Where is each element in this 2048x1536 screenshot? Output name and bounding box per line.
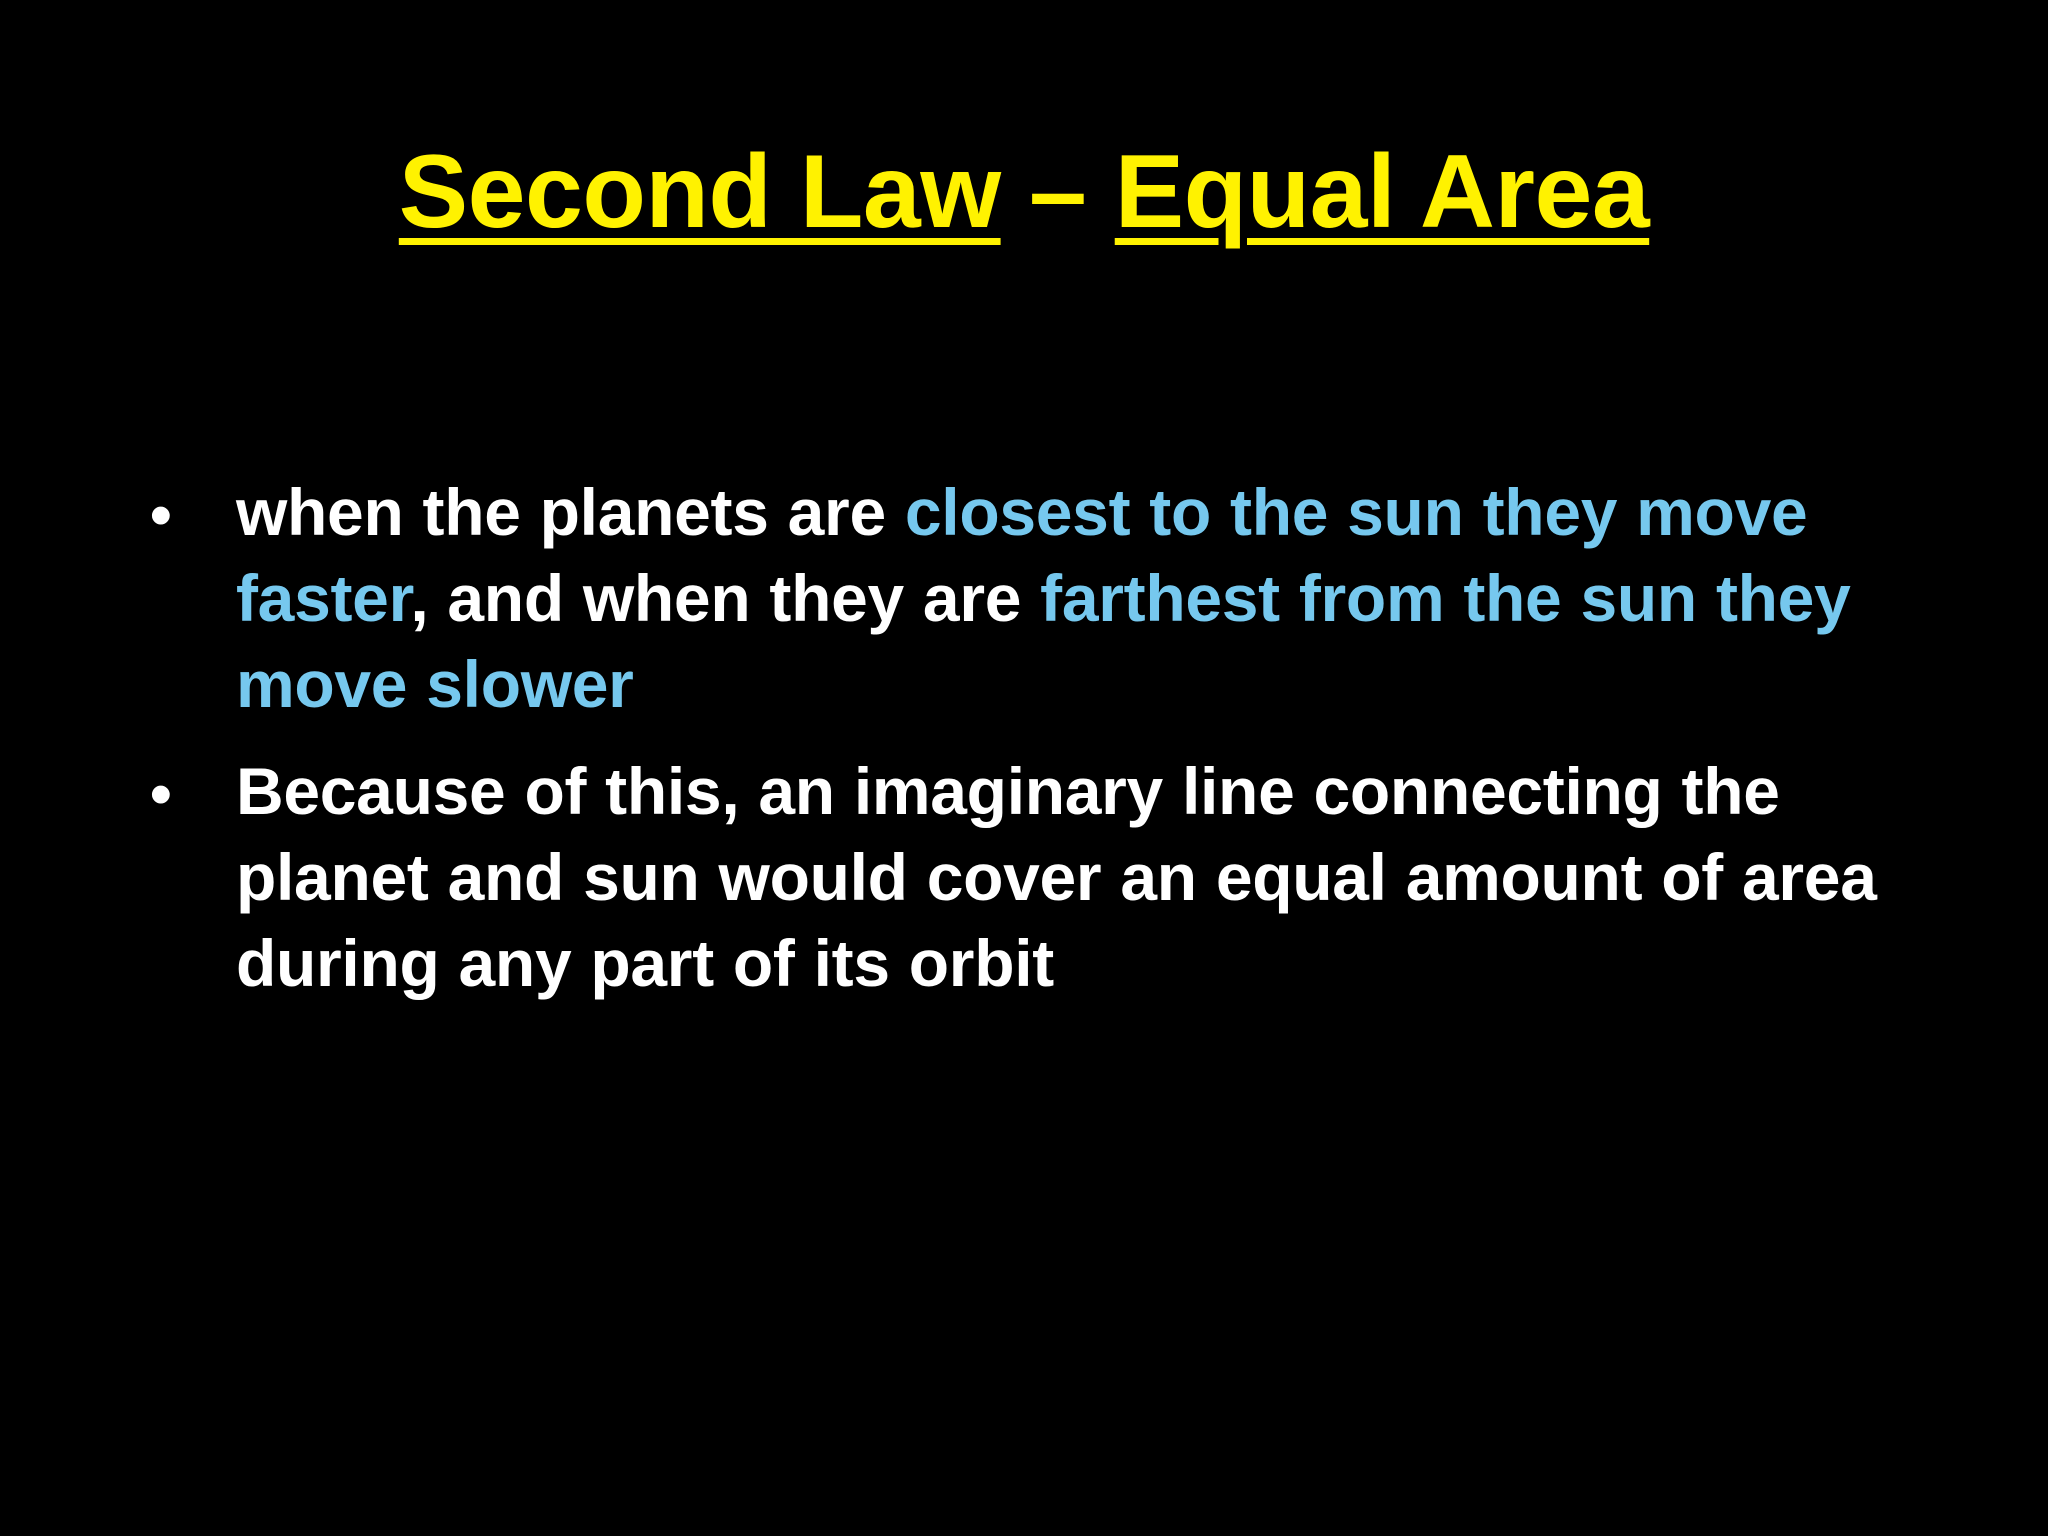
title-dash: – (1001, 134, 1115, 250)
title-line: Second Law – Equal Area (399, 134, 1649, 250)
bullet-text-2: Because of this, an imaginary line conne… (236, 749, 1940, 1006)
bullet-marker-icon: • (150, 749, 236, 836)
bullet-item-1: • when the planets are closest to the su… (150, 470, 1940, 727)
bullet-item-2: • Because of this, an imaginary line con… (150, 749, 1940, 1006)
slide-title: Second Law – Equal Area (0, 138, 2048, 247)
presentation-slide: Second Law – Equal Area • when the plane… (0, 0, 2048, 1536)
bullet-1-run-1: when the planets are (236, 475, 905, 549)
title-segment-first: Second Law (399, 134, 1001, 250)
bullet-text-1: when the planets are closest to the sun … (236, 470, 1940, 727)
bullet-2-run-1: Because of this, an imaginary line conne… (236, 754, 1877, 1000)
bullet-1-run-3: , and when they are (410, 561, 1040, 635)
slide-body: • when the planets are closest to the su… (150, 470, 1940, 1029)
bullet-marker-icon: • (150, 470, 236, 557)
title-segment-second: Equal Area (1115, 134, 1649, 250)
